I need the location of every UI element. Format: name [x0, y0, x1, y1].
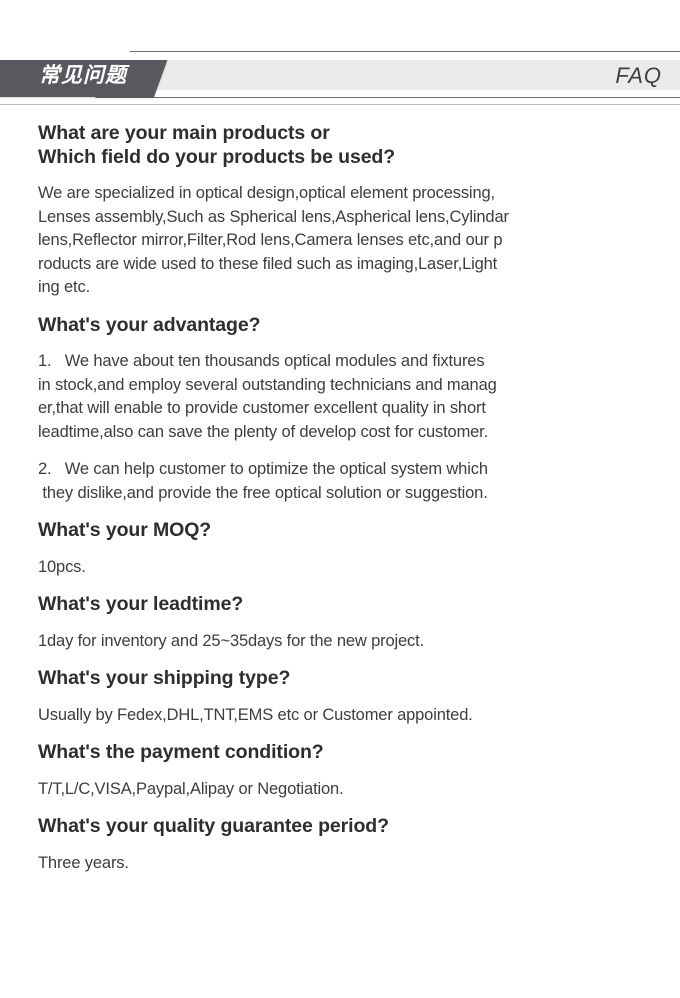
faq-question-line: What's your MOQ? [38, 519, 642, 543]
faq-answer-line: they dislike,and provide the free optica… [38, 482, 642, 506]
banner-divider [0, 104, 680, 105]
banner-title-english: FAQ [615, 62, 662, 90]
faq-question-line: Which field do your products be used? [38, 146, 642, 170]
faq-answer-line: Usually by Fedex,DHL,TNT,EMS etc or Cust… [38, 704, 642, 728]
faq-answer-line: Lenses assembly,Such as Spherical lens,A… [38, 206, 642, 230]
faq-answer-line: 1. We have about ten thousands optical m… [38, 350, 642, 374]
faq-answer: Usually by Fedex,DHL,TNT,EMS etc or Cust… [38, 704, 642, 728]
faq-item: What's your quality guarantee period?Thr… [38, 815, 642, 875]
faq-answer-line: Three years. [38, 852, 642, 876]
faq-question-line: What's your leadtime? [38, 593, 642, 617]
faq-question-line: What's your quality guarantee period? [38, 815, 642, 839]
faq-answer: T/T,L/C,VISA,Paypal,Alipay or Negotiatio… [38, 778, 642, 802]
faq-answer: Three years. [38, 852, 642, 876]
faq-answer-line: We are specialized in optical design,opt… [38, 182, 642, 206]
faq-question-line: What's your shipping type? [38, 667, 642, 691]
faq-answer: 1day for inventory and 25~35days for the… [38, 630, 642, 654]
faq-answer-line: 10pcs. [38, 556, 642, 580]
faq-answer-line: ing etc. [38, 276, 642, 300]
faq-question: What's your shipping type? [38, 667, 642, 691]
faq-item: What are your main products orWhich fiel… [38, 122, 642, 300]
faq-item: What's your MOQ?10pcs. [38, 519, 642, 579]
faq-question: What's the payment condition? [38, 741, 642, 765]
faq-answer: We are specialized in optical design,opt… [38, 182, 642, 300]
faq-question: What are your main products orWhich fiel… [38, 122, 642, 169]
faq-item: What's your leadtime?1day for inventory … [38, 593, 642, 653]
banner-title-chinese: 常见问题 [16, 63, 150, 89]
faq-answer: 10pcs. [38, 556, 642, 580]
faq-item: What's your shipping type?Usually by Fed… [38, 667, 642, 727]
banner-gray-band [118, 60, 680, 90]
faq-answer-line: er,that will enable to provide customer … [38, 397, 642, 421]
faq-answer-line: leadtime,also can save the plenty of dev… [38, 421, 642, 445]
faq-answer-line: lens,Reflector mirror,Filter,Rod lens,Ca… [38, 229, 642, 253]
faq-question-line: What's your advantage? [38, 314, 642, 338]
faq-question: What's your MOQ? [38, 519, 642, 543]
faq-answer: 1. We have about ten thousands optical m… [38, 350, 642, 444]
faq-answer: 2. We can help customer to optimize the … [38, 458, 642, 505]
faq-question-line: What's the payment condition? [38, 741, 642, 765]
faq-item: What's the payment condition?T/T,L/C,VIS… [38, 741, 642, 801]
faq-answer-line: roducts are wide used to these filed suc… [38, 253, 642, 277]
faq-question: What's your leadtime? [38, 593, 642, 617]
faq-item: What's your advantage?1. We have about t… [38, 314, 642, 506]
faq-content: What are your main products orWhich fiel… [38, 122, 642, 875]
faq-answer-line: T/T,L/C,VISA,Paypal,Alipay or Negotiatio… [38, 778, 642, 802]
faq-question: What's your quality guarantee period? [38, 815, 642, 839]
faq-answer-line: 2. We can help customer to optimize the … [38, 458, 642, 482]
faq-answer-line: 1day for inventory and 25~35days for the… [38, 630, 642, 654]
faq-question: What's your advantage? [38, 314, 642, 338]
faq-question-line: What are your main products or [38, 122, 642, 146]
faq-answer-line: in stock,and employ several outstanding … [38, 374, 642, 398]
